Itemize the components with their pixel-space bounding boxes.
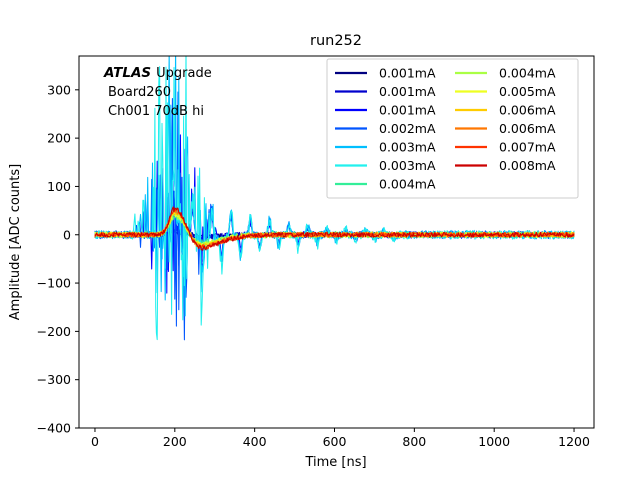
legend-item-label: 0.005mA xyxy=(499,84,556,99)
x-tick-label: 200 xyxy=(163,434,187,449)
legend-item-label: 0.001mA xyxy=(379,103,436,118)
x-tick-label: 600 xyxy=(323,434,347,449)
waveform-chart: run252 020040060080010001200 −400−300−20… xyxy=(0,0,640,480)
y-tick-label: 0 xyxy=(63,227,71,242)
channel-label: Ch001 70dB hi xyxy=(108,104,204,119)
board-label: Board260 xyxy=(108,85,171,100)
legend-item-label: 0.008mA xyxy=(499,158,556,173)
legend-item-label: 0.003mA xyxy=(379,140,436,155)
legend-item-label: 0.003mA xyxy=(379,158,436,173)
legend-item-label: 0.004mA xyxy=(379,177,436,192)
x-tick-label: 0 xyxy=(91,434,99,449)
x-tick-label: 800 xyxy=(402,434,426,449)
legend-item-label: 0.004mA xyxy=(499,66,556,81)
legend-item-label: 0.001mA xyxy=(379,66,436,81)
page-title: run252 xyxy=(310,33,362,49)
y-axis-label: Amplitude [ADC counts] xyxy=(8,164,23,320)
x-axis-label: Time [ns] xyxy=(304,455,366,470)
legend-item-label: 0.002mA xyxy=(379,121,436,136)
y-tick-label: −300 xyxy=(37,372,71,387)
y-tick-label: 200 xyxy=(47,131,71,146)
y-tick-label: −200 xyxy=(37,324,71,339)
y-tick-label: 300 xyxy=(47,82,71,97)
legend[interactable]: 0.001mA0.001mA0.001mA0.002mA0.003mA0.003… xyxy=(327,59,578,198)
x-tick-label: 1000 xyxy=(478,434,510,449)
legend-item-label: 0.001mA xyxy=(379,84,436,99)
x-tick-label: 400 xyxy=(243,434,267,449)
legend-item-label: 0.006mA xyxy=(499,103,556,118)
legend-item-label: 0.007mA xyxy=(499,140,556,155)
legend-item-label: 0.006mA xyxy=(499,121,556,136)
upgrade-label: Upgrade xyxy=(156,66,212,81)
x-tick-label: 1200 xyxy=(558,434,590,449)
y-tick-label: −400 xyxy=(37,421,71,436)
y-tick-label: 100 xyxy=(47,179,71,194)
y-tick-label: −100 xyxy=(37,276,71,291)
atlas-label: ATLAS xyxy=(103,65,151,81)
figure-canvas: run252 020040060080010001200 −400−300−20… xyxy=(0,0,640,480)
